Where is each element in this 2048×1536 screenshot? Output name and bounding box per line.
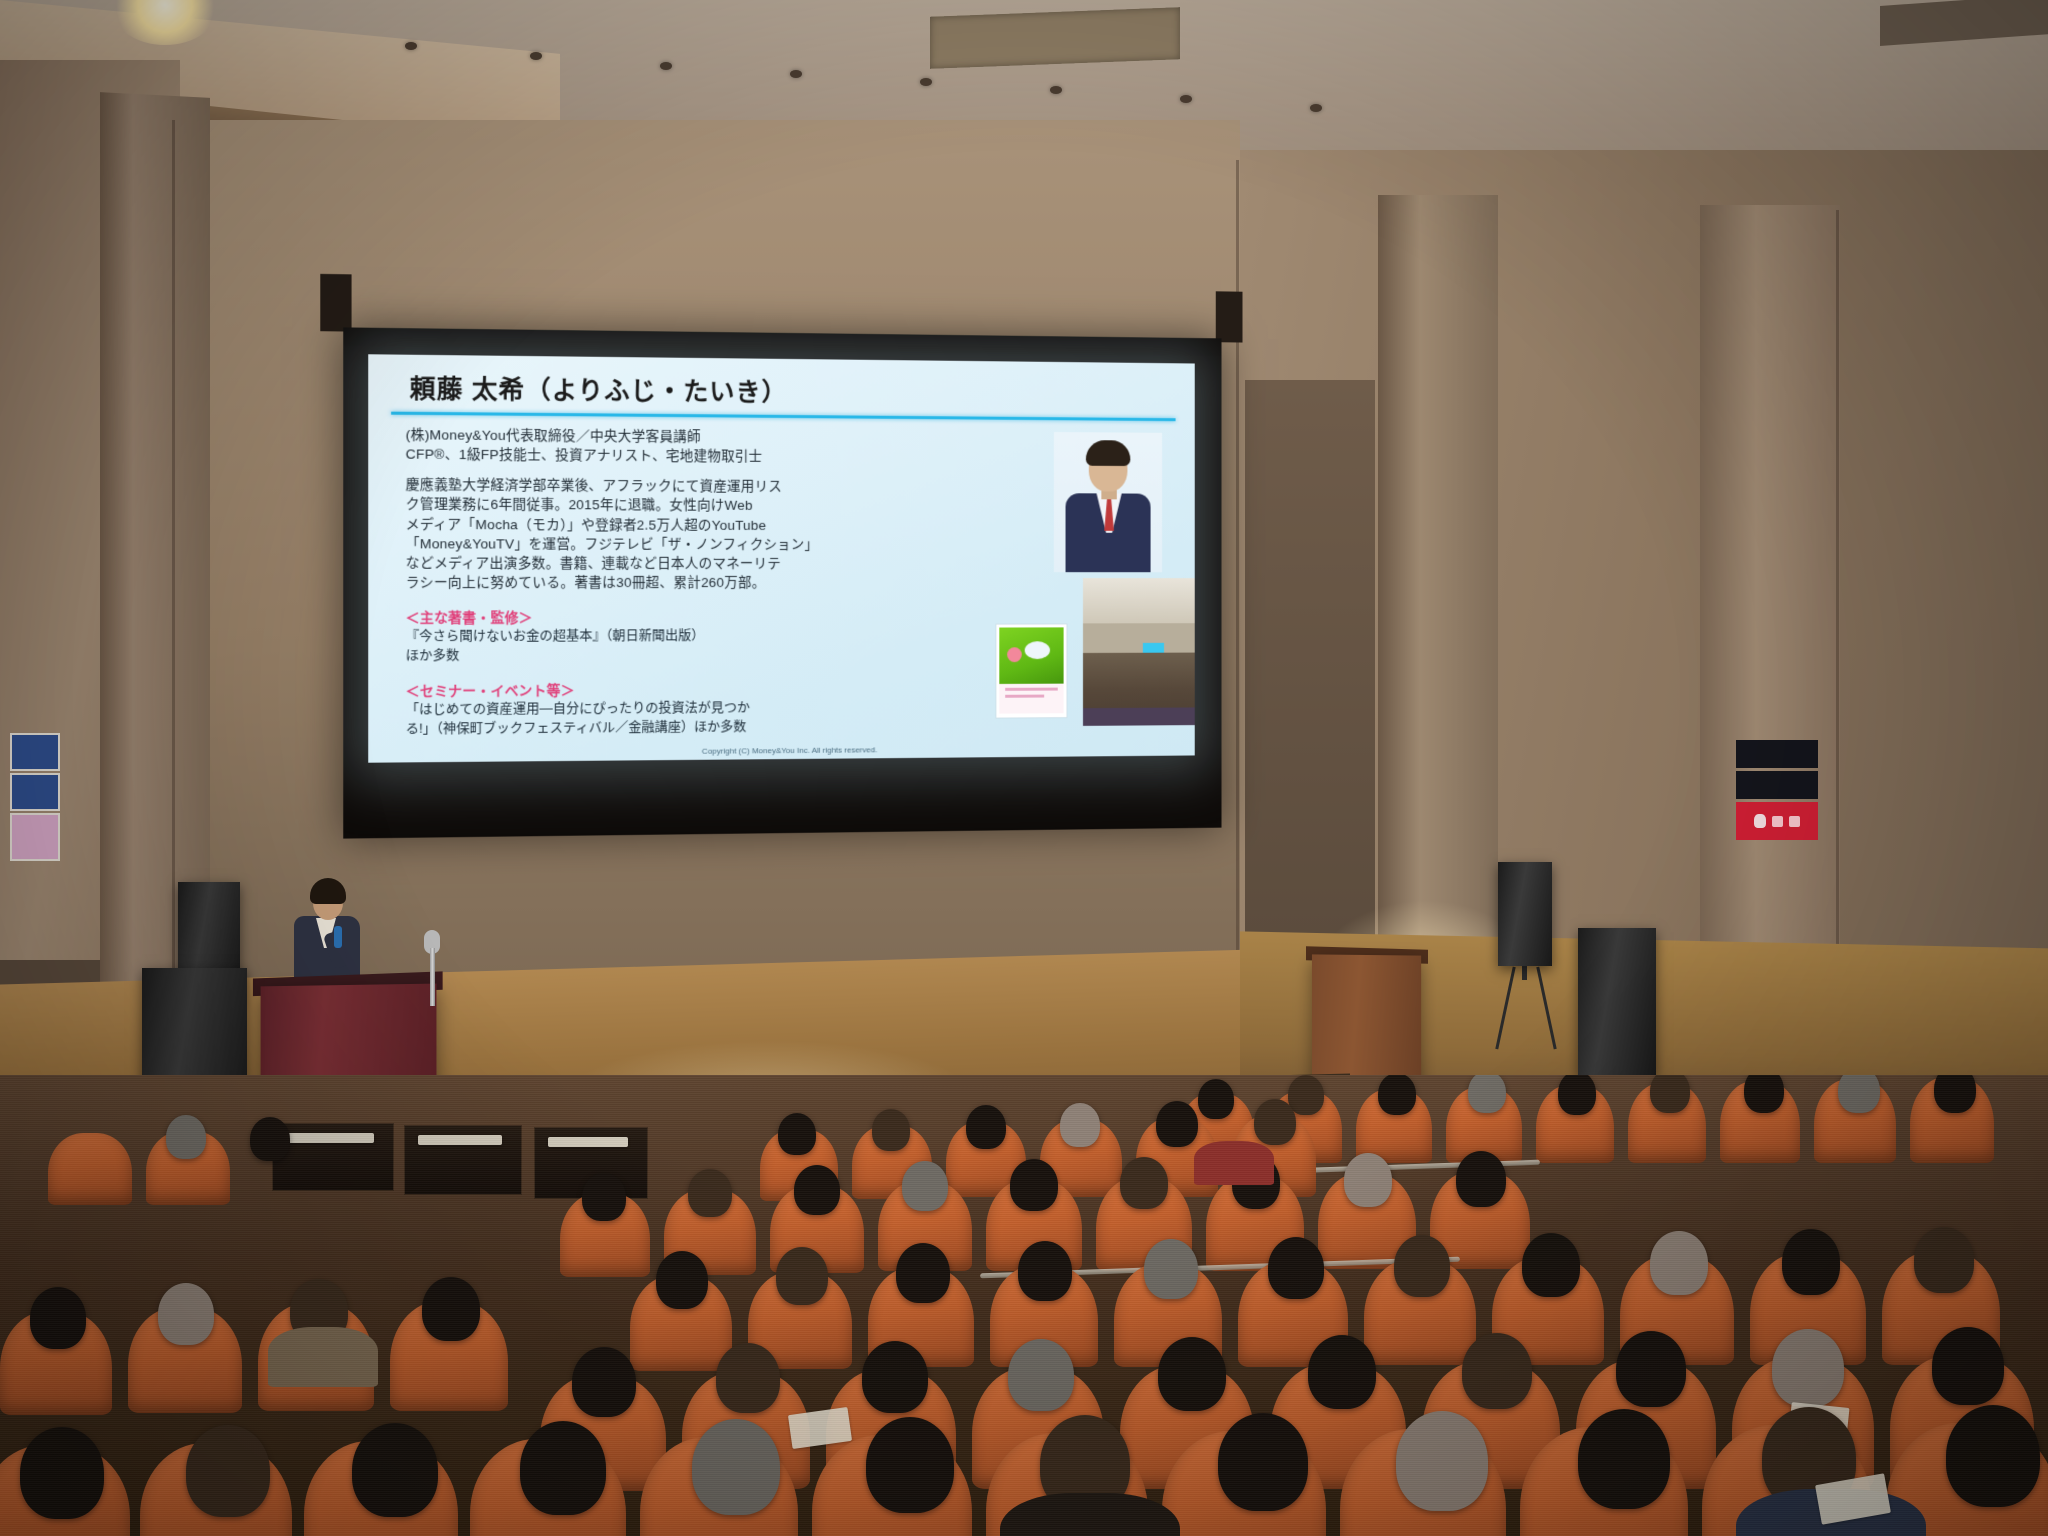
audience-head (572, 1347, 636, 1417)
wall-seam (1236, 160, 1239, 1010)
audience-shoulders (268, 1327, 378, 1387)
audience-head (866, 1417, 954, 1513)
ceiling-vent (930, 7, 1180, 69)
wall-notice-pink (10, 813, 60, 861)
audience-head (1198, 1079, 1234, 1119)
audience-head (776, 1247, 828, 1305)
wall-right-column (1378, 195, 1498, 985)
wall-notice-group-right (1736, 740, 1818, 852)
presenter-hair (310, 878, 346, 904)
slide-copyright-footer: Copyright (C) Money&You Inc. All rights … (368, 743, 1194, 759)
wall-notice-dark (1736, 740, 1818, 768)
slide-title: 頼藤 太希（よりふじ・たいき） (391, 369, 1175, 416)
audience-head (1018, 1241, 1072, 1301)
book-cover-icon (1007, 647, 1022, 662)
book-cover-icon (1025, 641, 1050, 659)
screen-surface: 頼藤 太希（よりふじ・たいき） (株)Money&You代表取締役／中央大学客員… (343, 327, 1221, 838)
downlight-icon (1310, 104, 1322, 112)
handheld-microphone (334, 926, 342, 948)
audience-head (30, 1287, 86, 1349)
wall-left-column (100, 92, 210, 998)
audience-head (1158, 1337, 1226, 1411)
pa-speaker-right-upper (1498, 862, 1552, 966)
seminar-event-photo-thumbnail (1083, 578, 1195, 726)
audience-head (1060, 1103, 1100, 1147)
wall-notice-blue (10, 733, 60, 771)
audience-head (1344, 1153, 1392, 1207)
book-cover-art (999, 627, 1063, 685)
downlight-icon (530, 52, 542, 60)
handout-paper (288, 1133, 374, 1143)
audience-head (250, 1117, 290, 1161)
audience-head (1558, 1075, 1596, 1115)
slide-text-column: (株)Money&You代表取締役／中央大学客員講師 CFP®、1級FP技能士、… (391, 425, 956, 739)
audience-head (352, 1423, 438, 1517)
book-cover-text-line (1005, 688, 1058, 691)
audience-head (1650, 1075, 1690, 1113)
handout-paper (548, 1137, 628, 1147)
audience-head (1288, 1075, 1324, 1115)
wall-seam (172, 120, 175, 1000)
downlight-icon (1050, 86, 1062, 94)
audience-head (1218, 1413, 1308, 1511)
microphone-stand (430, 948, 435, 1006)
projected-slide: 頼藤 太希（よりふじ・たいき） (株)Money&You代表取締役／中央大学客員… (368, 354, 1194, 762)
audience-head (1782, 1229, 1840, 1295)
audience-head (1396, 1411, 1488, 1511)
speaker-stand-tripod (1498, 966, 1554, 1050)
slide-section-seminars-line: る!」（神保町ブックフェスティバル／金融講座）ほか多数 (406, 716, 957, 739)
wall-notice-group-left (10, 733, 60, 863)
audience-head (1394, 1235, 1450, 1297)
audience-head (688, 1169, 732, 1217)
audience-head (1934, 1075, 1976, 1113)
audience-head (1522, 1233, 1580, 1297)
slide-section-heading-books: ＜主な著書・監修＞ (406, 606, 957, 627)
audience-head (1120, 1157, 1168, 1209)
audience-head (716, 1343, 780, 1413)
audience-head (1914, 1227, 1974, 1293)
audience-head (1010, 1159, 1058, 1211)
event-photo-foreground (1083, 707, 1195, 726)
audience-head (1254, 1099, 1296, 1145)
slide-bio-line: 「Money&YouTV」を運営。フジテレビ「ザ・ノンフィクション」 (406, 534, 957, 554)
audience-head (1378, 1075, 1416, 1115)
audience-head (1268, 1237, 1324, 1299)
book-cover-text-line (1005, 695, 1044, 698)
audience-head (794, 1165, 840, 1215)
downlight-icon (1180, 95, 1192, 103)
wall-far-column (1700, 205, 1840, 1005)
wall-seam (1836, 210, 1839, 1010)
audience-head (896, 1243, 950, 1303)
wall-alcove (1245, 380, 1375, 940)
audience-head (1838, 1075, 1880, 1113)
book-cover-text-block (999, 684, 1063, 714)
slide-bio-line: メディア「Mocha（モカ）」や登録者2.5万人超のYouTube (406, 514, 957, 535)
slide-body: (株)Money&You代表取締役／中央大学客員講師 CFP®、1級FP技能士、… (391, 425, 1175, 739)
audience-head (862, 1341, 928, 1413)
audience-head (1616, 1331, 1686, 1407)
audience-head (1946, 1405, 2040, 1507)
auditorium-scene: 頼藤 太希（よりふじ・たいき） (株)Money&You代表取締役／中央大学客員… (0, 0, 2048, 1536)
audience-head (422, 1277, 480, 1341)
downlight-icon (920, 78, 932, 86)
audience-head (20, 1427, 104, 1519)
projection-screen: 頼藤 太希（よりふじ・たいき） (株)Money&You代表取締役／中央大学客員… (343, 327, 1221, 838)
slide-bio-line: 慶應義塾大学経済学部卒業後、アフラックにて資産運用リス (406, 475, 957, 497)
audience-head (1308, 1335, 1376, 1409)
audience-head (1144, 1239, 1198, 1299)
audience-head (520, 1421, 606, 1515)
screen-bracket (1216, 291, 1243, 342)
audience-head (872, 1109, 910, 1151)
audience-shoulders (1194, 1141, 1274, 1185)
exit-arrow-icon (1789, 816, 1800, 827)
audience-head (1456, 1151, 1506, 1207)
audience-head (902, 1161, 948, 1211)
audience-head (778, 1113, 816, 1155)
seat (48, 1133, 132, 1205)
speaker-portrait-photo (1054, 432, 1162, 572)
slide-bio-paragraph: 慶應義塾大学経済学部卒業後、アフラックにて資産運用リス ク管理業務に6年間従事。… (406, 475, 957, 592)
audience-head (186, 1425, 270, 1517)
audience-head (158, 1283, 214, 1345)
audience-head (1008, 1339, 1074, 1411)
wall-notice-blue (10, 773, 60, 811)
downlight-icon (405, 42, 417, 50)
audience-head (582, 1173, 626, 1221)
exit-running-figure-icon (1754, 814, 1766, 828)
pa-subwoofer-right (1578, 928, 1656, 1076)
slide-bio-line: ラシー向上に努めている。著書は30冊超、累計260万部。 (406, 573, 957, 593)
audience-head (1932, 1327, 2004, 1405)
audience-head (1772, 1329, 1844, 1407)
exit-door-icon (1772, 816, 1783, 827)
book-cover-thumbnail (995, 623, 1067, 718)
handout-paper (418, 1135, 502, 1145)
audience-head (656, 1251, 708, 1309)
slide-section-books-line: 『今さら聞けないお金の超基本』（朝日新聞出版） (406, 626, 957, 646)
audience-head (1578, 1409, 1670, 1509)
slide-affiliation-line-2: CFP®、1級FP技能士、投資アナリスト、宅地建物取引士 (406, 445, 957, 468)
slide-section-books-line: ほか多数 (406, 645, 957, 666)
screen-bracket (320, 274, 351, 332)
audience-seating (0, 1075, 2048, 1536)
event-photo-stage-band (1083, 623, 1195, 653)
audience-head (166, 1115, 206, 1159)
audience-head (1650, 1231, 1708, 1295)
slide-bio-line: などメディア出演多数。書籍、連載など日本人のマネーリテ (406, 553, 957, 573)
emergency-exit-sign (1736, 802, 1818, 840)
audience-head (966, 1105, 1006, 1149)
audience-head (1744, 1075, 1784, 1113)
downlight-icon (660, 62, 672, 70)
downlight-icon (790, 70, 802, 78)
portrait-hair (1086, 440, 1130, 466)
slide-bio-line: ク管理業務に6年間従事。2015年に退職。女性向けWeb (406, 495, 957, 516)
audience-head (1468, 1075, 1506, 1113)
event-photo-background (1083, 578, 1195, 623)
audience-head (1156, 1101, 1198, 1147)
audience-head (692, 1419, 780, 1515)
wall-notice-dark (1736, 771, 1818, 799)
audience-head (1462, 1333, 1532, 1409)
